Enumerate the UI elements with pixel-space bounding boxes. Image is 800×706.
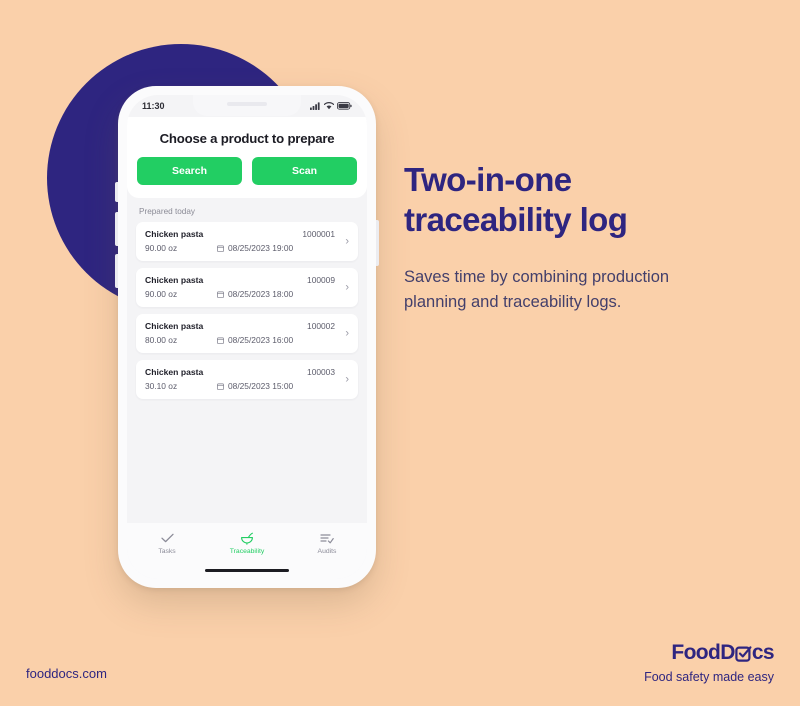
batch-code: 100009: [307, 275, 335, 285]
bottom-tab-bar: Tasks Traceability: [127, 523, 367, 579]
product-name: Chicken pasta: [145, 367, 203, 377]
brand-block: FoodD cs Food safety made easy: [644, 642, 774, 684]
phone-screen: 11:30: [127, 95, 367, 579]
product-date: 08/25/2023 18:00: [217, 289, 293, 299]
batch-code: 100002: [307, 321, 335, 331]
logo-text-part-1: FoodD: [671, 642, 734, 663]
mortar-bowl-icon: [240, 531, 254, 545]
chevron-right-icon[interactable]: ›: [345, 282, 349, 293]
phone-power-button: [376, 220, 379, 266]
calendar-icon: [217, 383, 224, 390]
phone-volume-down-button: [115, 254, 118, 288]
list-item[interactable]: Chicken pasta 100002 80.00 oz 08/25/2023…: [136, 314, 358, 353]
product-date-text: 08/25/2023 19:00: [228, 243, 293, 253]
product-amount: 90.00 oz: [145, 243, 217, 253]
prepared-today-list: Chicken pasta 1000001 90.00 oz 08/25/202…: [127, 222, 367, 399]
tab-tasks[interactable]: Tasks: [127, 531, 207, 555]
list-item[interactable]: Chicken pasta 100003 30.10 oz 08/25/2023…: [136, 360, 358, 399]
checklist-icon: [320, 531, 334, 545]
list-item-bottom-row: 90.00 oz 08/25/2023 18:00: [145, 289, 349, 299]
checkbox-o-icon: [735, 645, 752, 662]
tab-audits[interactable]: Audits: [287, 531, 367, 555]
headline: Two-in-one traceability log: [404, 160, 734, 241]
signal-icon: [310, 102, 321, 110]
list-item-top-row: Chicken pasta 100003: [145, 367, 349, 377]
headline-line-1: Two-in-one: [404, 161, 572, 198]
list-item-top-row: Chicken pasta 1000001: [145, 229, 349, 239]
batch-code: 100003: [307, 367, 335, 377]
marketing-copy: Two-in-one traceability log Saves time b…: [404, 160, 734, 316]
list-item-bottom-row: 30.10 oz 08/25/2023 15:00: [145, 381, 349, 391]
page-title: Choose a product to prepare: [137, 131, 357, 146]
product-date: 08/25/2023 16:00: [217, 335, 293, 345]
phone-mockup: 11:30: [118, 86, 376, 588]
home-indicator[interactable]: [205, 569, 289, 573]
status-time: 11:30: [142, 101, 165, 111]
phone-mute-switch: [115, 182, 118, 202]
product-date: 08/25/2023 19:00: [217, 243, 293, 253]
footer-url[interactable]: fooddocs.com: [26, 666, 107, 681]
product-date: 08/25/2023 15:00: [217, 381, 293, 391]
chevron-right-icon[interactable]: ›: [345, 236, 349, 247]
scan-button[interactable]: Scan: [252, 157, 357, 185]
tab-label-traceability: Traceability: [230, 548, 265, 555]
fooddocs-logo: FoodD cs: [644, 642, 774, 663]
list-item-top-row: Chicken pasta 100009: [145, 275, 349, 285]
list-item-bottom-row: 90.00 oz 08/25/2023 19:00: [145, 243, 349, 253]
calendar-icon: [217, 245, 224, 252]
list-item[interactable]: Chicken pasta 100009 90.00 oz 08/25/2023…: [136, 268, 358, 307]
list-item-top-row: Chicken pasta 100002: [145, 321, 349, 331]
product-name: Chicken pasta: [145, 229, 203, 239]
product-amount: 30.10 oz: [145, 381, 217, 391]
search-button[interactable]: Search: [137, 157, 242, 185]
chevron-right-icon[interactable]: ›: [345, 374, 349, 385]
product-header-card: Choose a product to prepare Search Scan: [127, 117, 367, 198]
product-name: Chicken pasta: [145, 275, 203, 285]
brand-tagline: Food safety made easy: [644, 670, 774, 684]
headline-line-2: traceability log: [404, 201, 627, 238]
chevron-right-icon[interactable]: ›: [345, 328, 349, 339]
phone-frame: 11:30: [118, 86, 376, 588]
tab-label-audits: Audits: [318, 548, 337, 555]
battery-icon: [337, 102, 352, 110]
logo-text-part-2: cs: [752, 642, 774, 663]
phone-volume-up-button: [115, 212, 118, 246]
product-amount: 90.00 oz: [145, 289, 217, 299]
product-date-text: 08/25/2023 15:00: [228, 381, 293, 391]
status-bar: 11:30: [127, 95, 367, 117]
wifi-icon: [324, 102, 334, 110]
tab-label-tasks: Tasks: [158, 548, 175, 555]
tab-traceability[interactable]: Traceability: [207, 531, 287, 555]
batch-code: 1000001: [302, 229, 335, 239]
section-label-prepared-today: Prepared today: [127, 198, 367, 222]
product-amount: 80.00 oz: [145, 335, 217, 345]
product-date-text: 08/25/2023 16:00: [228, 335, 293, 345]
status-icons: [310, 102, 352, 110]
list-item-bottom-row: 80.00 oz 08/25/2023 16:00: [145, 335, 349, 345]
subheadline: Saves time by combining production plann…: [404, 265, 734, 316]
app-content: Choose a product to prepare Search Scan …: [127, 117, 367, 579]
product-date-text: 08/25/2023 18:00: [228, 289, 293, 299]
list-item[interactable]: Chicken pasta 1000001 90.00 oz 08/25/202…: [136, 222, 358, 261]
product-name: Chicken pasta: [145, 321, 203, 331]
header-actions: Search Scan: [137, 157, 357, 185]
check-icon: [161, 531, 174, 545]
calendar-icon: [217, 291, 224, 298]
calendar-icon: [217, 337, 224, 344]
